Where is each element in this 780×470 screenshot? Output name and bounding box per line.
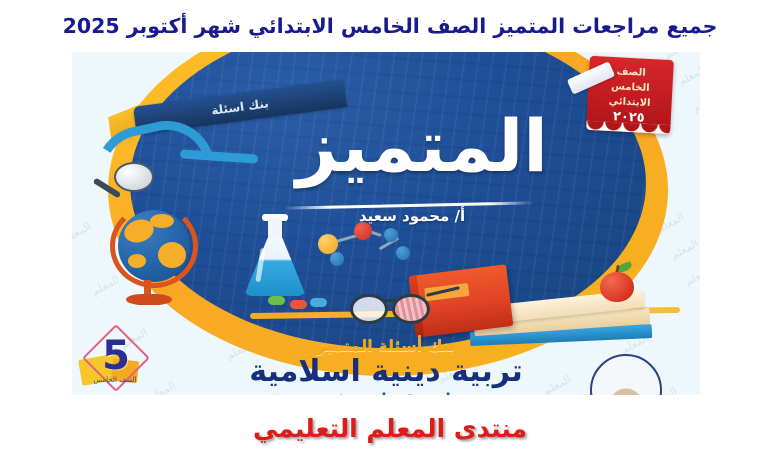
page-title: جميع مراجعات المتميز الصف الخامس الابتدا… (0, 14, 780, 38)
grade-badge-year: ٢٠٢٥ (586, 108, 671, 127)
poster-image: المعلم المعلم المعلم المعلم المعلم المعل… (72, 52, 700, 395)
poster-author-name: أ/ محمود سعيد (262, 207, 562, 225)
screenshot-root: جميع مراجعات المتميز الصف الخامس الابتدا… (0, 0, 780, 470)
site-watermark: منتدى المعلم التعليمي (0, 414, 780, 443)
poster-question-bank-line: بنك أسئلة المتميز (72, 336, 700, 355)
grade-five-logo-caption: الصف الخامس (84, 376, 146, 384)
grade-five-logo: 5 الصف الخامس (78, 330, 152, 392)
grade-five-logo-number: 5 (94, 332, 138, 380)
